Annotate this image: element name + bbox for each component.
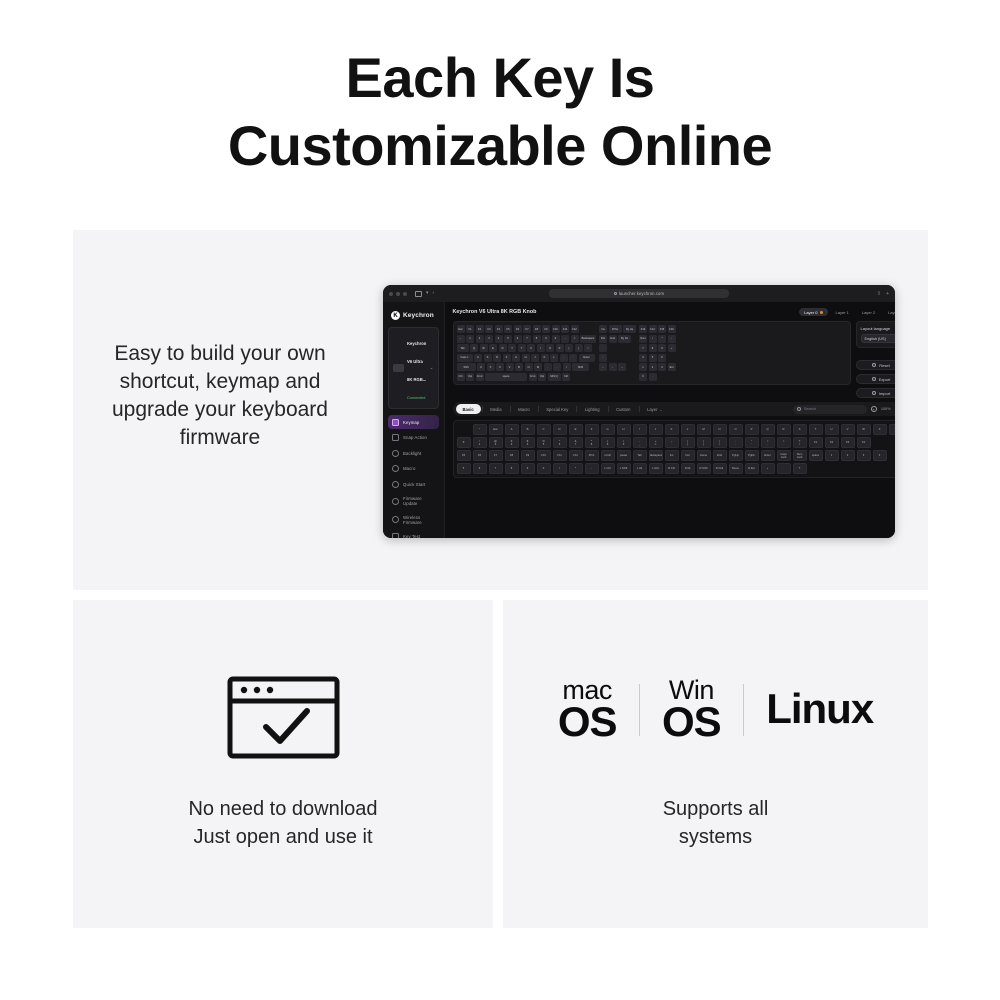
keyboard-key[interactable]: F6	[514, 325, 522, 333]
picker-key[interactable]: R Ent	[745, 463, 759, 474]
picker-key[interactable]: scroll	[601, 450, 615, 461]
picker-key[interactable]: >.	[777, 437, 791, 448]
keyboard-key[interactable]: 7	[523, 335, 531, 343]
keyboard-key[interactable]: D	[493, 354, 501, 362]
new-tab-icon[interactable]: +	[886, 291, 889, 297]
keyboard-key[interactable]: Shift	[572, 363, 589, 371]
keyboard-key[interactable]: ;	[560, 354, 568, 362]
import-button[interactable]: Import	[856, 388, 895, 398]
chrome-tools[interactable]: ▾ ‹	[415, 291, 434, 297]
tab-lighting[interactable]: Lighting	[578, 404, 607, 414]
sidebar-item-quick-start[interactable]: Quick Start	[388, 477, 439, 491]
tab-custom[interactable]: Custom	[609, 404, 637, 414]
keyboard-icon	[393, 364, 404, 372]
picker-key[interactable]: 5	[457, 463, 471, 474]
sidebar-item-wireless-firmware[interactable]: Wireless Firmware	[388, 511, 439, 528]
picker-key[interactable]: 1	[825, 450, 839, 461]
os-logo-row: mac OS Win OS Linux	[503, 678, 928, 741]
picker-key[interactable]: F	[585, 424, 599, 435]
keyboard-key[interactable]: Cmd	[529, 373, 537, 381]
picker-key[interactable]: 7	[489, 463, 503, 474]
picker-key[interactable]: <,	[761, 437, 775, 448]
keyboard-key[interactable]: 2	[476, 335, 484, 343]
picker-row: Z!1@2#3$4%5^6&7*8(9)0-_+=~`{[}]|\:;"'<,>…	[457, 437, 895, 448]
keyboard-key[interactable]: 4	[495, 335, 503, 343]
keyboard-key[interactable]: Tab	[457, 344, 469, 352]
picker-key[interactable]: Ins	[665, 450, 679, 461]
keyboard-key[interactable]: Cmd	[476, 373, 484, 381]
panel-actions: ResetExportImport	[856, 360, 895, 398]
address-bar[interactable]: launcher.keychron.com	[549, 289, 729, 298]
picker-key[interactable]: O	[729, 424, 743, 435]
picker-key[interactable]: W	[857, 424, 871, 435]
picker-key[interactable]: )0	[617, 437, 631, 448]
picker-key[interactable]: L	[681, 424, 695, 435]
keyboard-key[interactable]: 8	[649, 344, 657, 352]
keyboard-key[interactable]: Ctrl	[562, 373, 570, 381]
picker-key[interactable]: F5	[457, 450, 471, 461]
picker-key[interactable]: F6	[473, 450, 487, 461]
keyboard-key[interactable]: W	[480, 344, 488, 352]
layer-tab-layer-0[interactable]: Layer 0	[799, 308, 827, 316]
picker-key[interactable]: ?	[793, 463, 807, 474]
picker-key[interactable]: E	[569, 424, 583, 435]
keyboard-key[interactable]: -	[668, 335, 676, 343]
keyboard-key[interactable]	[599, 344, 607, 352]
keycode-picker[interactable]: °EscABCDEFGHIJKLMNOPQRSTUVWXYZ!1@2#3$4%5…	[453, 420, 895, 478]
picker-key[interactable]: Home	[697, 450, 711, 461]
import-icon	[872, 391, 876, 395]
picker-key[interactable]: ~`	[665, 437, 679, 448]
keyboard-key[interactable]: .	[649, 373, 657, 381]
browser-chrome: ▾ ‹ launcher.keychron.com ⇧ +	[383, 285, 895, 302]
search-input[interactable]: Search	[793, 405, 867, 414]
sidebar-item-macro[interactable]: Macro	[388, 462, 439, 476]
keyboard-key[interactable]: '	[569, 354, 577, 362]
sidebar-item-icon	[392, 465, 399, 472]
zoom-in-icon[interactable]: +	[871, 406, 877, 412]
keyboard-row	[599, 344, 636, 352]
export-icon	[872, 377, 876, 381]
keyboard-key[interactable]: Ent	[668, 363, 676, 371]
chevron-down-icon[interactable]: ⌄	[429, 365, 433, 371]
sidebar-item-icon	[392, 498, 399, 505]
picker-key[interactable]: 0	[537, 463, 551, 474]
picker-key[interactable]: U	[825, 424, 839, 435]
keyboard-key[interactable]: F8	[533, 325, 541, 333]
picker-key[interactable]: {[	[681, 437, 695, 448]
keycode-tabs: BasicMediaMacroSpecial KeyLightingCustom…	[456, 404, 670, 414]
keyboard-key[interactable]: Shift	[457, 363, 476, 371]
device-selector[interactable]: Keychron V6 Ultra 8K RGB... Connected ⌄	[388, 327, 439, 409]
picker-key[interactable]: R Shift	[697, 463, 711, 474]
picker-key[interactable]: F12	[569, 450, 583, 461]
sidebar-item-backlight[interactable]: Backlight	[388, 446, 439, 460]
picker-key[interactable]: V	[841, 424, 855, 435]
picker-key[interactable]: J	[649, 424, 663, 435]
keyboard-row: ←↓→	[599, 363, 636, 371]
keyboard-key[interactable]: N	[525, 363, 533, 371]
picker-key[interactable]: #3	[505, 437, 519, 448]
picker-key[interactable]: Tab	[633, 450, 647, 461]
picker-key	[841, 463, 855, 474]
sidebar-item-firmware-update[interactable]: Firmware Update	[388, 493, 439, 510]
picker-key[interactable]: 2	[841, 450, 855, 461]
picker-key[interactable]: F2	[825, 437, 839, 448]
keyboard-key[interactable]: PrtSc	[609, 325, 622, 333]
picker-key[interactable]: ^6	[553, 437, 567, 448]
picker-key[interactable]: @2	[489, 437, 503, 448]
tab-separator	[608, 406, 609, 412]
os-support-line-1: Supports all	[663, 798, 769, 820]
tab-special-key[interactable]: Special Key	[539, 404, 575, 414]
sidebar-item-key-test[interactable]: Key Test	[388, 530, 439, 539]
keyboard-key[interactable]: Esc	[457, 325, 465, 333]
keyboard-key[interactable]: F16	[668, 325, 676, 333]
picker-key[interactable]: End	[713, 450, 727, 461]
keyboard-key[interactable]: I	[537, 344, 545, 352]
app-main: Keychron V6 Ultra 8K RGB Knob Layer 0Lay…	[445, 302, 895, 538]
no-download-line-1: No need to download	[188, 798, 377, 820]
keyboard-key[interactable]: Ctrl	[457, 373, 465, 381]
picker-key[interactable]: R	[777, 424, 791, 435]
keyboard-key[interactable]: G	[512, 354, 520, 362]
keyboard-key[interactable]: 2	[649, 363, 657, 371]
picker-key[interactable]: K	[665, 424, 679, 435]
picker-key[interactable]: 9	[521, 463, 535, 474]
keyboard-key[interactable]: E	[489, 344, 497, 352]
picker-key[interactable]: 4	[873, 450, 887, 461]
export-button-label: Export	[879, 377, 891, 382]
picker-key[interactable]: F7	[489, 450, 503, 461]
picker-key[interactable]: R Ctrl	[665, 463, 679, 474]
picker-key[interactable]: M	[697, 424, 711, 435]
keyboard-key[interactable]: Z	[477, 363, 485, 371]
keyboard-key[interactable]: *	[658, 335, 666, 343]
picker-key[interactable]: %5	[537, 437, 551, 448]
picker-key[interactable]: &7	[569, 437, 583, 448]
picker-key[interactable]: $4	[521, 437, 535, 448]
keyboard-key[interactable]: V	[506, 363, 514, 371]
keyboard-key[interactable]: ↑	[599, 354, 607, 362]
keyboard-key[interactable]: /	[563, 363, 571, 371]
picker-key[interactable]: F9	[521, 450, 535, 461]
picker-key[interactable]: "'	[745, 437, 759, 448]
sidebar-item-label: Backlight	[403, 451, 421, 456]
picker-key[interactable]: G	[601, 424, 615, 435]
picker-key[interactable]: F1	[809, 437, 823, 448]
picker-key[interactable]: 6	[473, 463, 487, 474]
keyboard-key[interactable]: =	[571, 335, 579, 343]
picker-key	[873, 437, 887, 448]
keyboard-key[interactable]: Q	[470, 344, 478, 352]
keyboard-key[interactable]: .	[553, 363, 561, 371]
reset-button-label: Reset	[879, 363, 889, 368]
sidebar-item-icon	[392, 419, 399, 426]
picker-key[interactable]: P	[745, 424, 759, 435]
picker-key[interactable]: L Shift	[617, 463, 631, 474]
keyboard-row: DelEndPg Dn	[599, 335, 636, 343]
layout-language-value: English (US)	[865, 337, 886, 341]
keyboard-key[interactable]: H	[522, 354, 530, 362]
share-icon[interactable]: ⇧	[877, 291, 881, 297]
keyboard-key[interactable]: K	[541, 354, 549, 362]
picker-key[interactable]: F8	[505, 450, 519, 461]
picker-key[interactable]: Q	[761, 424, 775, 435]
picker-key[interactable]: F10	[537, 450, 551, 461]
picker-key[interactable]: T	[809, 424, 823, 435]
picker-key[interactable]: space	[809, 450, 823, 461]
keyboard-key[interactable]: ←	[599, 363, 607, 371]
keyboard-key[interactable]: MO(1)	[548, 373, 561, 381]
export-button[interactable]: Export	[856, 374, 895, 384]
keyboard-main-block[interactable]: EscF1F2F3F4F5F6F7F8F9F10F11F12~123456789…	[457, 325, 597, 381]
keyboard-key[interactable]: F3	[485, 325, 493, 333]
app-sidebar: K Keychron Keychron V6 Ultra 8K RGB... C…	[383, 302, 445, 538]
keyboard-preview[interactable]: EscF1F2F3F4F5F6F7F8F9F10F11F12~123456789…	[453, 321, 851, 385]
keyboard-key[interactable]: ~	[457, 335, 465, 343]
back-arrow-icon[interactable]: ‹	[433, 291, 435, 296]
keyboard-key[interactable]: F1	[466, 325, 474, 333]
search-placeholder: Search	[804, 407, 816, 411]
picker-key[interactable]: B	[521, 424, 535, 435]
keyboard-key[interactable]: →	[618, 363, 626, 371]
picker-key[interactable]: L Alt	[633, 463, 647, 474]
tab-layer[interactable]: Layer⌄	[640, 404, 669, 414]
picker-key[interactable]: F3	[841, 437, 855, 448]
keyboard-key[interactable]: F10	[552, 325, 560, 333]
layer-tab-layer-1[interactable]: Layer 1	[831, 308, 854, 316]
keyboard-key[interactable]: 3	[658, 363, 666, 371]
picker-key[interactable]: A	[505, 424, 519, 435]
picker-key[interactable]: N	[713, 424, 727, 435]
keyboard-key[interactable]: F5	[504, 325, 512, 333]
keyboard-key[interactable]: M	[534, 363, 542, 371]
keyboard-key[interactable]: C	[496, 363, 504, 371]
keyboard-key[interactable]: ↓	[609, 363, 617, 371]
traffic-lights[interactable]	[389, 292, 407, 296]
chevron-down-icon[interactable]: ▾	[426, 291, 429, 296]
keyboard-key[interactable]: 8	[533, 335, 541, 343]
picker-key[interactable]: /	[553, 463, 567, 474]
keyboard-key[interactable]: Caps L	[457, 354, 473, 362]
keyboard-key[interactable]: 9	[542, 335, 550, 343]
keyboard-key[interactable]: 4	[639, 354, 647, 362]
no-download-caption: No need to download Just open and use it	[73, 795, 493, 851]
keyboard-nav-block[interactable]: InsPrtScPg UpDelEndPg Dn↑←↓→	[599, 325, 636, 381]
keyboard-key[interactable]: R	[499, 344, 507, 352]
keyboard-key[interactable]: F11	[561, 325, 569, 333]
keyboard-key[interactable]: 0	[552, 335, 560, 343]
picker-key[interactable]: Caps Lock	[777, 450, 791, 461]
sidebar-item-keymap[interactable]: Keymap	[388, 415, 439, 429]
keyboard-key[interactable]: F7	[523, 325, 531, 333]
picker-key[interactable]: 3	[857, 450, 871, 461]
zoom-level: 100%	[881, 407, 891, 411]
url-text: launcher.keychron.com	[619, 291, 664, 296]
sidebar-toggle-icon[interactable]	[415, 291, 422, 297]
keyboard-key[interactable]: A	[474, 354, 482, 362]
tab-basic[interactable]: Basic	[456, 404, 481, 414]
picker-key[interactable]: Backspace	[649, 450, 663, 461]
picker-key[interactable]: °	[473, 424, 487, 435]
picker-key[interactable]: Del	[681, 450, 695, 461]
launcher-card-copy: Easy to build your own shortcut, keymap …	[95, 340, 345, 452]
keyboard-key[interactable]: B	[515, 363, 523, 371]
keyboard-key[interactable]: Opt	[466, 373, 474, 381]
picker-key[interactable]: +=	[649, 437, 663, 448]
picker-key[interactable]: }]	[697, 437, 711, 448]
chrome-right-tools[interactable]: ⇧ +	[877, 291, 889, 297]
browser-check-icon	[226, 675, 341, 760]
macos-bottom: OS	[558, 703, 617, 742]
keyboard-key[interactable]: Num	[639, 335, 647, 343]
keyboard-key[interactable]: [	[565, 344, 573, 352]
keyboard-key[interactable]: ]	[575, 344, 583, 352]
app-body: K Keychron Keychron V6 Ultra 8K RGB... C…	[383, 302, 895, 538]
keyboard-key[interactable]: T	[508, 344, 516, 352]
picker-key[interactable]: 8	[505, 463, 519, 474]
keyboard-key[interactable]: Enter	[579, 354, 595, 362]
picker-key[interactable]: L GUI	[649, 463, 663, 474]
keyboard-key[interactable]: F	[503, 354, 511, 362]
keyboard-key[interactable]: F14	[649, 325, 657, 333]
picker-key[interactable]: pause	[617, 450, 631, 461]
picker-key[interactable]: Enter	[761, 450, 775, 461]
keyboard-key[interactable]: F4	[495, 325, 503, 333]
picker-key[interactable]: D	[553, 424, 567, 435]
picker-key[interactable]: H	[617, 424, 631, 435]
sidebar-item-icon	[392, 533, 399, 538]
keyboard-key[interactable]: 1	[466, 335, 474, 343]
keyboard-key[interactable]: -	[561, 335, 569, 343]
promo-page: Each Key Is Customizable Online Easy to …	[0, 0, 1000, 1000]
keyboard-key[interactable]: F12	[571, 325, 579, 333]
picker-key[interactable]: Y	[889, 424, 895, 435]
keyboard-key[interactable]: Del	[599, 335, 607, 343]
picker-key[interactable]: R GUI	[713, 463, 727, 474]
keyboard-key[interactable]: F15	[658, 325, 666, 333]
picker-key[interactable]: C	[537, 424, 551, 435]
picker-key[interactable]: F11	[553, 450, 567, 461]
picker-key[interactable]: Num Lock	[793, 450, 807, 461]
picker-key[interactable]: PgUp	[729, 450, 743, 461]
keyboard-key[interactable]: Ins	[599, 325, 607, 333]
keyboard-key[interactable]: space	[485, 373, 527, 381]
keyboard-key[interactable]: 7	[639, 344, 647, 352]
picker-key[interactable]: .	[777, 463, 791, 474]
keyboard-key[interactable]: Pg Dn	[618, 335, 631, 343]
sidebar-item-label: Quick Start	[403, 482, 425, 487]
keyboard-key[interactable]: Pg Up	[623, 325, 636, 333]
keyboard-key[interactable]: P	[556, 344, 564, 352]
picker-key[interactable]: Z	[457, 437, 471, 448]
keyboard-key[interactable]: 1	[639, 363, 647, 371]
keyboard-key[interactable]: \	[584, 344, 592, 352]
picker-key[interactable]: ?/	[793, 437, 807, 448]
layout-language-box: Layout language English (US) ▾	[856, 321, 895, 348]
keyboard-key[interactable]: 3	[485, 335, 493, 343]
picker-key[interactable]: I	[633, 424, 647, 435]
picker-key[interactable]: |\	[713, 437, 727, 448]
layer-tab-layer-3[interactable]: Layer 3	[883, 308, 895, 316]
sidebar-item-snap-action[interactable]: Snap Action	[388, 431, 439, 445]
keyboard-key[interactable]: Opt	[538, 373, 546, 381]
winos-bottom: OS	[662, 703, 721, 742]
headline-line-2: Customizable Online	[0, 112, 1000, 180]
picker-key[interactable]: !1	[473, 437, 487, 448]
picker-key[interactable]: S	[793, 424, 807, 435]
lock-icon	[614, 292, 617, 295]
picker-key[interactable]: :;	[729, 437, 743, 448]
device-name: Keychron V6 Ultra 8K RGB...	[407, 341, 426, 382]
keyboard-key[interactable]: /	[649, 335, 657, 343]
picker-key[interactable]: (9	[601, 437, 615, 448]
right-panel: Layout language English (US) ▾ ResetExpo…	[851, 321, 895, 402]
no-download-line-2: Just open and use it	[193, 826, 372, 848]
reset-button[interactable]: Reset	[856, 360, 895, 370]
keyboard-row: F13F14F15F16	[639, 325, 676, 333]
picker-key[interactable]: -	[585, 463, 599, 474]
picker-key[interactable]: Esc	[489, 424, 503, 435]
picker-key	[889, 437, 895, 448]
keyboard-key[interactable]: +	[668, 344, 676, 352]
keyboard-key[interactable]: F9	[542, 325, 550, 333]
keyboard-numpad-block[interactable]: F13F14F15F16Num/*-789+456123Ent0.	[639, 325, 676, 381]
keyboard-row: 456	[639, 354, 676, 362]
picker-key[interactable]: +	[761, 463, 775, 474]
keyboard-key[interactable]: ,	[544, 363, 552, 371]
keyboard-key[interactable]: 5	[504, 335, 512, 343]
keyboard-key[interactable]: J	[531, 354, 539, 362]
keyboard-key[interactable]: S	[484, 354, 492, 362]
layout-language-select[interactable]: English (US) ▾	[861, 334, 895, 343]
keyboard-key[interactable]: 9	[658, 344, 666, 352]
keyboard-row: ~1234567890-=Backspace	[457, 335, 597, 343]
tab-separator	[510, 406, 511, 412]
keyboard-key[interactable]: F2	[476, 325, 484, 333]
picker-key[interactable]: PgDn	[745, 450, 759, 461]
layer-tab-layer-2[interactable]: Layer 2	[857, 308, 880, 316]
tab-separator	[538, 406, 539, 412]
keyboard-key[interactable]: U	[527, 344, 535, 352]
picker-key[interactable]: Menu	[729, 463, 743, 474]
keyboard-key[interactable]: F13	[639, 325, 647, 333]
keyboard-key[interactable]: L	[550, 354, 558, 362]
picker-key[interactable]: F4	[857, 437, 871, 448]
picker-key[interactable]: Print	[585, 450, 599, 461]
keyboard-key[interactable]: 6	[514, 335, 522, 343]
keyboard-key[interactable]: Y	[518, 344, 526, 352]
keyboard-key[interactable]: End	[609, 335, 617, 343]
keyboard-key[interactable]: 5	[649, 354, 657, 362]
picker-key[interactable]: X	[873, 424, 887, 435]
sidebar-item-label: Macro	[403, 466, 415, 471]
keyboard-key[interactable]: Backspace	[580, 335, 596, 343]
picker-key[interactable]: R Alt	[681, 463, 695, 474]
picker-key[interactable]: -_	[633, 437, 647, 448]
picker-key[interactable]: *8	[585, 437, 599, 448]
picker-key[interactable]: L Ctrl	[601, 463, 615, 474]
keyboard-key[interactable]: O	[546, 344, 554, 352]
keyboard-key[interactable]: 0	[639, 373, 647, 381]
keyboard-key[interactable]: X	[487, 363, 495, 371]
tab-macro[interactable]: Macro	[511, 404, 537, 414]
keycode-tabstrip: BasicMediaMacroSpecial KeyLightingCustom…	[453, 402, 895, 416]
tab-media[interactable]: Media	[483, 404, 508, 414]
keyboard-key[interactable]: 6	[658, 354, 666, 362]
picker-key[interactable]: *	[569, 463, 583, 474]
